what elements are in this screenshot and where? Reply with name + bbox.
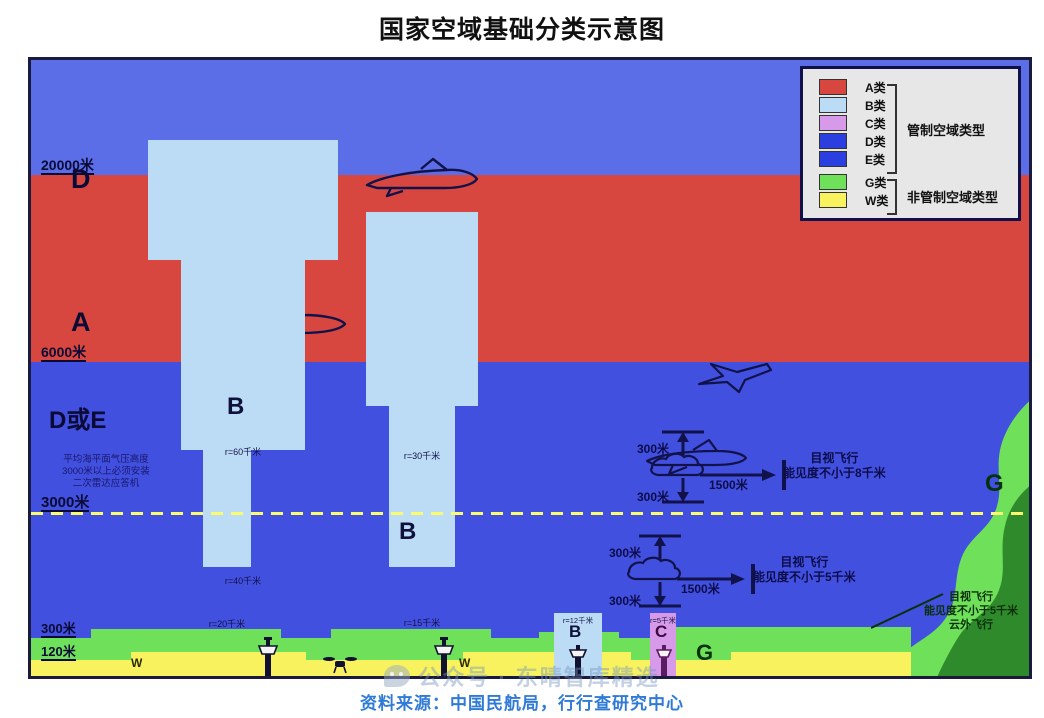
transponder-note-line-2: 3000米以上必须安装 [31,466,181,478]
legend-row-a: A类 [819,78,1018,96]
legend-swatch-b [819,97,847,113]
wechat-icon [384,665,410,687]
source-note: 资料来源：中国民航局，行行查研究中心 [0,689,1044,714]
altitude-label-300m: 300米 [41,621,76,638]
radius-label-20km: r=20千米 [177,617,277,630]
vfr-lower-text-line-1: 目视飞行 [753,555,856,570]
transponder-note-line-1: 平均海平面气压高度 [31,454,181,466]
vfr-lower-horizontal-label: 1500米 [681,580,720,597]
legend-label-w: W类 [865,192,888,209]
radius-label-30km: r=30千米 [372,449,472,462]
vfr-lower-cloud-below-label: 300米 [609,592,641,609]
vfr-upper-text-line-2: 能见度不小于8千米 [783,466,886,481]
watermark: 公众号 · 东晴智库精选 [0,660,1044,692]
legend-row-b: B类 [819,96,1018,114]
vfr-mountain-text: 目视飞行 能见度不小于5千米 云外飞行 [886,590,1032,632]
zone-label-a: A [71,307,91,338]
vfr-upper-text-line-1: 目视飞行 [783,451,886,466]
legend-label-a: A类 [865,79,886,96]
legend-row-e: E类 [819,150,1018,168]
block-label-b-upper: B [227,393,244,421]
vfr-mountain-text-line-2: 能见度不小于5千米 [886,604,1032,618]
legend-swatch-w [819,192,847,208]
legend-label-g: G类 [865,174,886,191]
ground-green-step-1 [91,629,281,641]
class-b-block-left-top [148,140,338,260]
vfr-lower-text-line-2: 能见度不小于5千米 [753,570,856,585]
legend-swatch-e [819,151,847,167]
vfr-lower-text: 目视飞行 能见度不小于5千米 [753,555,856,585]
legend-group-controlled: 管制空域类型 [907,120,985,139]
altitude-label-6000m: 6000米 [41,345,86,362]
airspace-diagram: D A D或E G G W W B B B C r=60千米 r=40千米 r=… [28,57,1032,679]
legend-brace-uncontrolled [887,179,897,215]
transponder-note-line-3: 二次雷达应答机 [31,478,181,490]
vfr-lower-cloud-above-label: 300米 [609,544,641,561]
zone-label-d-or-e: D或E [49,400,106,435]
altitude-label-120m: 120米 [41,644,76,661]
radius-label-15km: r=15千米 [372,616,472,629]
page-title: 国家空域基础分类示意图 [0,10,1044,46]
vfr-upper-cloud-below-label: 300米 [637,488,669,505]
radius-label-40km: r=40千米 [193,574,293,587]
watermark-text: 公众号 · 东晴智库精选 [418,660,660,692]
legend-label-d: D类 [865,133,886,150]
ground-green-step-2 [331,629,491,641]
radius-label-5km: r=5千米 [613,615,713,626]
altitude-label-20000m: 20000米 [41,158,94,175]
spacecraft-icon [361,155,481,200]
vfr-mountain-text-line-3: 云外飞行 [886,618,1032,632]
legend-swatch-d [819,133,847,149]
vfr-mountain-text-line-1: 目视飞行 [886,590,1032,604]
transponder-note: 平均海平面气压高度 3000米以上必须安装 二次雷达应答机 [31,454,181,490]
legend-panel: A类 B类 C类 D类 E类 G类 W类 管制空域类型 非管制空域类 [800,66,1021,221]
legend-group-uncontrolled: 非管制空域类型 [907,187,998,206]
legend-label-e: E类 [865,151,885,168]
legend-swatch-g [819,174,847,190]
legend-brace-controlled [887,84,897,174]
vfr-upper-cloud-above-label: 300米 [637,440,669,457]
legend-swatch-c [819,115,847,131]
legend-swatch-a [819,79,847,95]
class-b-block-mid-top [366,212,478,406]
block-label-b-mid: B [399,518,416,546]
legend-label-b: B类 [865,97,886,114]
radius-label-60km: r=60千米 [193,445,293,458]
vfr-upper-text: 目视飞行 能见度不小于8千米 [783,451,886,481]
legend-label-c: C类 [865,115,886,132]
zone-label-g-mountain: G [985,470,1004,498]
altitude-line-3000m [31,512,1029,515]
fighter-jet-icon [693,350,775,400]
vfr-upper-horizontal-label: 1500米 [709,476,748,493]
altitude-label-3000m: 3000米 [41,495,89,512]
